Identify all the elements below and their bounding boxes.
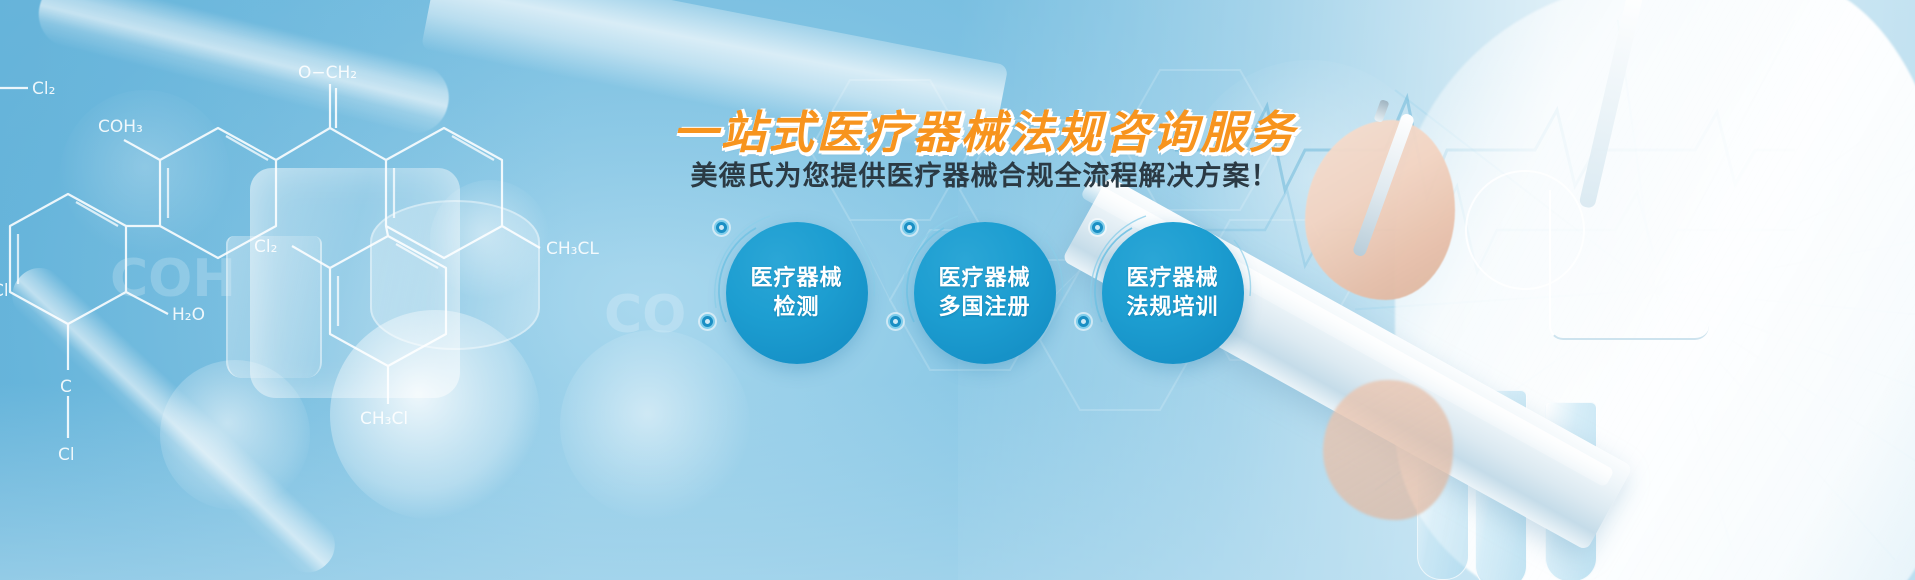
svg-text:C: C [60, 377, 72, 397]
badge-circle[interactable]: 医疗器械 检测 [726, 222, 868, 364]
svg-text:O−CH₂: O−CH₂ [298, 63, 357, 83]
service-badge-testing[interactable]: 医疗器械 检测 [726, 222, 868, 364]
badge-node-dot-icon [888, 314, 903, 329]
svg-text:Cl: Cl [58, 445, 75, 465]
badge-node-dot-icon [1090, 220, 1105, 235]
headline-container: 一站式医疗器械法规咨询服务 [0, 96, 1915, 161]
badge-label-line1: 医疗器械 [938, 266, 1030, 291]
page-title: 一站式医疗器械法规咨询服务 [672, 96, 1296, 161]
badge-circle[interactable]: 医疗器械 法规培训 [1102, 222, 1244, 364]
badge-label-line1: 医疗器械 [1126, 266, 1218, 291]
badge-node-dot-icon [1076, 314, 1091, 329]
service-badge-row: 医疗器械 检测 医疗器械 多国注册 [0, 222, 1915, 364]
svg-text:CH₃Cl: CH₃Cl [360, 409, 408, 429]
page-subtitle: 美德氏为您提供医疗器械合规全流程解决方案！ [691, 154, 1279, 193]
service-badge-multi-country-registration[interactable]: 医疗器械 多国注册 [914, 222, 1056, 364]
badge-node-dot-icon [714, 220, 729, 235]
badge-node-dot-icon [700, 314, 715, 329]
badge-label-line2: 法规培训 [1126, 295, 1218, 320]
supporting-hand [1323, 380, 1453, 520]
badge-node-dot-icon [902, 220, 917, 235]
badge-label-line2: 多国注册 [938, 295, 1030, 320]
service-badge-regulatory-training[interactable]: 医疗器械 法规培训 [1102, 222, 1244, 364]
badge-label-line2: 检测 [773, 295, 819, 320]
hero-banner: Cl₂ COH₃ O−CH₂ CH₃CL H₂O Cl₂ CH₃Cl C Cl … [0, 0, 1915, 580]
subheadline-container: 美德氏为您提供医疗器械合规全流程解决方案！ [0, 154, 1915, 193]
badge-circle[interactable]: 医疗器械 多国注册 [914, 222, 1056, 364]
badge-label-line1: 医疗器械 [750, 266, 842, 291]
